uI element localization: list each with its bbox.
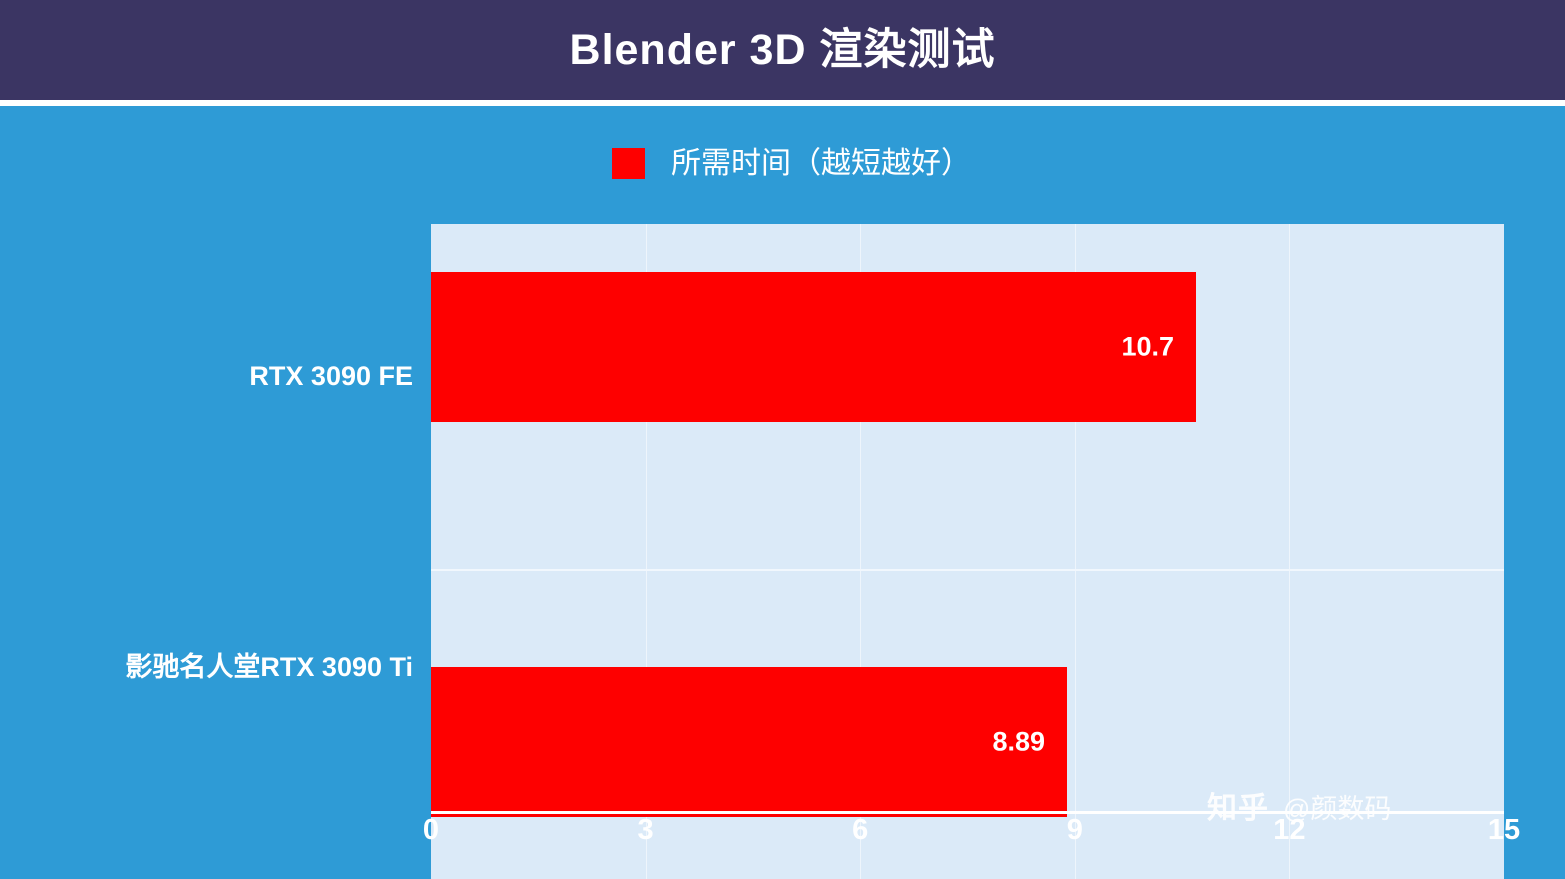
- x-tick-6: 6: [852, 816, 868, 845]
- bar-galax-hof-rtx-3090-ti: 8.89: [431, 667, 1067, 817]
- bar-rtx-3090-fe: 10.7: [431, 272, 1196, 422]
- chart-area: 所需时间（越短越好） 10.7 8.89 RTX 3090 FE 影驰名人堂RT…: [0, 106, 1565, 879]
- watermark-username: @颜数码: [1283, 796, 1391, 823]
- x-tick-9: 9: [1067, 816, 1083, 845]
- page-title: Blender 3D 渲染测试: [570, 29, 996, 72]
- bar-value-galax-hof-rtx-3090-ti: 8.89: [992, 729, 1045, 756]
- chart-page: Blender 3D 渲染测试 所需时间（越短越好） 10.7 8.89 RTX: [0, 0, 1565, 879]
- zhihu-logo: 知乎: [1207, 794, 1269, 824]
- legend: 所需时间（越短越好）: [612, 148, 971, 179]
- plot-panel: 10.7 8.89: [431, 224, 1504, 879]
- legend-label-time: 所需时间（越短越好）: [671, 149, 971, 179]
- bar-value-rtx-3090-fe: 10.7: [1121, 334, 1174, 361]
- x-tick-0: 0: [423, 816, 439, 845]
- title-bar: Blender 3D 渲染测试: [0, 0, 1565, 100]
- category-label-galax-hof-rtx-3090-ti: 影驰名人堂RTX 3090 Ti: [125, 654, 413, 681]
- legend-swatch-time: [612, 148, 645, 179]
- row-separator: [431, 569, 1504, 571]
- watermark: 知乎 @颜数码: [1207, 794, 1391, 824]
- x-tick-15: 15: [1488, 816, 1520, 845]
- category-label-rtx-3090-fe: RTX 3090 FE: [249, 363, 413, 390]
- x-tick-3: 3: [638, 816, 654, 845]
- gridline-12: [1289, 224, 1290, 879]
